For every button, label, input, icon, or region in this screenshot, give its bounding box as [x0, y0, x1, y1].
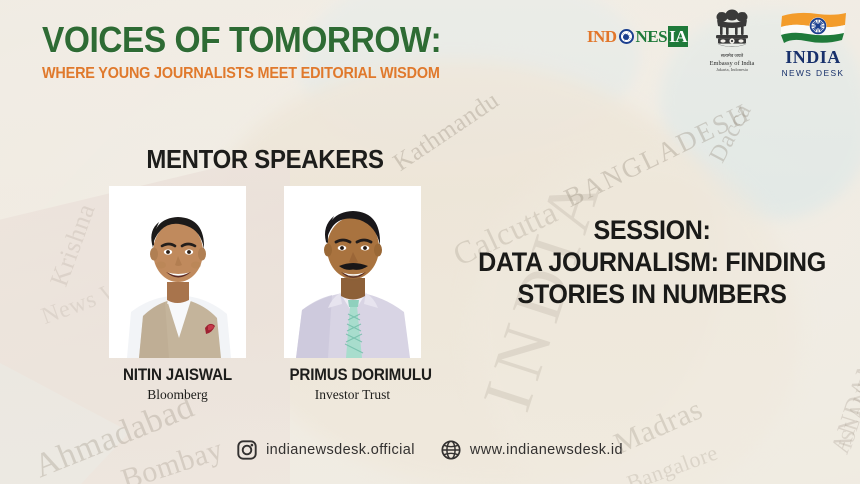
primus-dorimulu-portrait	[284, 186, 421, 358]
indonesia-logo-seg3: IA	[668, 26, 688, 47]
embassy-name: Embassy of India	[704, 60, 760, 67]
event-banner: Kathmandu BANGLADESH Dacca Calcutta INDI…	[0, 0, 860, 484]
event-title: VOICES OF TOMORROW:	[42, 22, 433, 59]
speaker-card: PRIMUS DORIMULU Investor Trust	[284, 186, 421, 403]
flag-wrapper	[776, 10, 850, 50]
india-news-desk-line1: INDIA	[776, 48, 850, 66]
nitin-jaiswal-portrait	[109, 186, 246, 358]
speaker-name: NITIN JAISWAL	[114, 366, 240, 385]
india-tricolor-flag-map-icon	[776, 10, 850, 50]
speaker-photo	[284, 186, 421, 358]
session-label: SESSION:	[466, 214, 838, 246]
instagram-handle-item[interactable]: indianewsdesk.official	[237, 440, 415, 460]
embassy-motto: सत्यमेव जयते	[704, 53, 760, 58]
indonesia-logo: IND NES IA	[586, 26, 688, 47]
india-news-desk-logo: INDIA NEWS DESK	[776, 10, 850, 78]
website-url-text[interactable]: www.indianewsdesk.id	[470, 442, 623, 458]
instagram-handle-text[interactable]: indianewsdesk.official	[266, 442, 415, 458]
ashoka-lion-capital-emblem-icon	[712, 8, 752, 52]
session-title-line-2: STORIES IN NUMBERS	[466, 278, 838, 310]
website-url-item[interactable]: www.indianewsdesk.id	[441, 440, 623, 460]
speaker-organization: Bloomberg	[109, 387, 246, 403]
session-title-line-1: DATA JOURNALISM: FINDING	[466, 246, 838, 278]
speaker-organization: Investor Trust	[284, 387, 421, 403]
embassy-location: Jakarta, Indonesia	[704, 67, 760, 72]
mentor-speakers-heading: MENTOR SPEAKERS	[21, 144, 509, 175]
speaker-photo	[109, 186, 246, 358]
ashoka-chakra-icon	[619, 29, 634, 44]
speakers-list: NITIN JAISWAL Bloomberg	[0, 186, 530, 403]
indonesia-logo-seg2: NES	[635, 26, 669, 47]
indonesia-logo-seg1: IND	[586, 26, 618, 47]
event-subtitle: WHERE YOUNG JOURNALISTS MEET EDITORIAL W…	[42, 65, 433, 83]
speaker-name: PRIMUS DORIMULU	[289, 366, 415, 385]
session-title-block: SESSION: DATA JOURNALISM: FINDING STORIE…	[466, 214, 838, 310]
globe-icon[interactable]	[441, 440, 461, 460]
footer-social-bar: indianewsdesk.official www.indianewsdesk…	[0, 440, 860, 460]
embassy-of-india-logo: सत्यमेव जयते Embassy of India Jakarta, I…	[704, 8, 760, 72]
logo-bar: IND NES IA	[586, 6, 850, 78]
india-news-desk-line2: NEWS DESK	[776, 68, 850, 78]
speaker-card: NITIN JAISWAL Bloomberg	[109, 186, 246, 403]
instagram-icon[interactable]	[237, 440, 257, 460]
headline-block: VOICES OF TOMORROW: WHERE YOUNG JOURNALI…	[42, 22, 462, 83]
